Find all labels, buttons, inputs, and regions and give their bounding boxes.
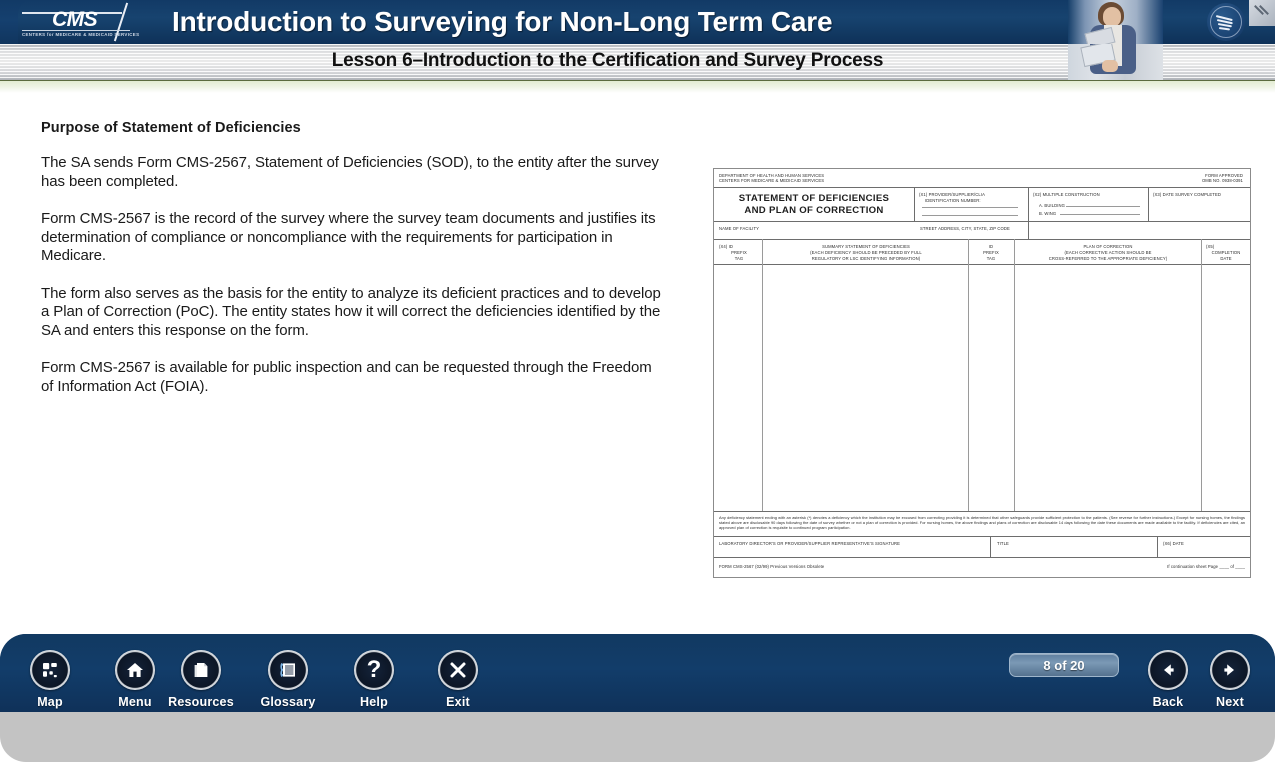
- arrow-right-icon[interactable]: [1210, 650, 1250, 690]
- window-corner-icon: [1249, 0, 1275, 26]
- form-address-label: STREET ADDRESS, CITY, STATE, ZIP CODE: [917, 224, 1177, 233]
- nav-button-exit[interactable]: Exit: [420, 650, 496, 709]
- form-col-id-l3: TAG: [970, 254, 1012, 263]
- footer-gray-area: [0, 712, 1275, 762]
- nav-label-next: Next: [1192, 695, 1268, 709]
- form-x6-date-label: (X6) DATE: [1160, 539, 1248, 548]
- photo-face: [1103, 7, 1121, 27]
- form-col-x4-l3: TAG: [716, 254, 762, 263]
- form-vline-c: [1148, 187, 1149, 221]
- form-col-rule-2: [968, 239, 969, 511]
- form-vline-sig-2: [1157, 536, 1158, 557]
- nav-label-menu: Menu: [97, 695, 173, 709]
- paragraph-1: The SA sends Form CMS-2567, Statement of…: [41, 154, 661, 191]
- form-x1-rule-2: [922, 215, 1018, 216]
- form-continuation-note: If continuation sheet Page ____ of ____: [1064, 562, 1248, 571]
- form-x3-label: (X3) DATE SURVEY COMPLETED: [1150, 190, 1250, 199]
- form-signature-label: LABORATORY DIRECTOR'S OR PROVIDER/SUPPLI…: [716, 539, 986, 548]
- form-col-summary-l3: REGULATORY OR LSC IDENTIFYING INFORMATIO…: [764, 254, 968, 263]
- form-x2-wing-rule: [1060, 214, 1140, 215]
- nav-button-next[interactable]: Next: [1192, 650, 1268, 709]
- arrow-left-icon[interactable]: [1148, 650, 1188, 690]
- paragraph-4: Form CMS-2567 is available for public in…: [41, 359, 661, 396]
- form-col-rule-4: [1201, 239, 1202, 511]
- form-x2-building-rule: [1066, 206, 1140, 207]
- form-x1-rule-1: [922, 207, 1018, 208]
- course-page: CMS CENTERS for MEDICARE & MEDICAID SERV…: [0, 0, 1275, 762]
- form-divider-2: [714, 221, 1250, 222]
- close-x-icon[interactable]: [438, 650, 478, 690]
- form-x1-sublabel: IDENTIFICATION NUMBER:: [922, 196, 1032, 205]
- lesson-text-column: Purpose of Statement of Deficiencies The…: [41, 120, 661, 396]
- nav-label-exit: Exit: [420, 695, 496, 709]
- nav-button-map[interactable]: Map: [12, 650, 88, 709]
- book-list-icon[interactable]: [268, 650, 308, 690]
- paragraph-2: Form CMS-2567 is the record of the surve…: [41, 210, 661, 266]
- question-mark-icon[interactable]: ?: [354, 650, 394, 690]
- nav-label-help: Help: [336, 695, 412, 709]
- cms-logo-wordmark: CMS: [52, 8, 97, 32]
- page-counter-badge: 8 of 20: [1009, 653, 1119, 677]
- form-divider-3: [714, 239, 1250, 240]
- page-title: Introduction to Surveying for Non-Long T…: [172, 3, 1062, 41]
- form-divider-7: [714, 557, 1250, 558]
- seal-eagle: [1216, 13, 1236, 31]
- map-icon[interactable]: [30, 650, 70, 690]
- section-heading: Purpose of Statement of Deficiencies: [41, 120, 661, 136]
- cms-2567-form-image: DEPARTMENT OF HEALTH AND HUMAN SERVICES …: [713, 168, 1251, 578]
- paragraph-3: The form also serves as the basis for th…: [41, 285, 661, 341]
- form-approved-line-2: OMB NO. 0938-0391: [1124, 176, 1246, 185]
- photo-binder: [1084, 27, 1115, 44]
- form-divider-6: [714, 536, 1250, 537]
- accent-strip: [0, 81, 1275, 93]
- form-divider: [714, 187, 1250, 188]
- form-vline-a: [914, 187, 915, 221]
- nav-button-menu[interactable]: Menu: [97, 650, 173, 709]
- header-photo: [1068, 0, 1163, 44]
- form-divider-4: [714, 264, 1250, 265]
- cms-logo: CMS CENTERS for MEDICARE & MEDICAID SERV…: [22, 4, 154, 42]
- cms-logo-rule-mid: [22, 30, 130, 31]
- form-agency-line-2: CENTERS FOR MEDICARE & MEDICAID SERVICES: [716, 176, 916, 185]
- form-number: FORM CMS-2567 (02/99) Previous Versions …: [716, 562, 976, 571]
- form-col-x5-l3: DATE: [1203, 254, 1249, 263]
- form-title-label: TITLE: [994, 539, 1154, 548]
- hhs-seal-icon: [1207, 3, 1245, 41]
- home-icon[interactable]: [115, 650, 155, 690]
- cms-logo-subtext: CENTERS for MEDICARE & MEDICAID SERVICES: [22, 32, 139, 37]
- form-title-line-2: AND PLAN OF CORRECTION: [716, 203, 912, 220]
- form-divider-5: [714, 511, 1250, 512]
- documents-icon[interactable]: [181, 650, 221, 690]
- nav-label-resources: Resources: [163, 695, 239, 709]
- form-vline-sig-1: [990, 536, 991, 557]
- nav-label-map: Map: [12, 695, 88, 709]
- form-col-poc-l3: CROSS-REFERRED TO THE APPROPRIATE DEFICI…: [1016, 254, 1200, 263]
- content-area: Purpose of Statement of Deficiencies The…: [0, 93, 1275, 633]
- subtitle-photo-continuation: [1068, 44, 1163, 80]
- form-col-rule-3: [1014, 239, 1015, 511]
- nav-button-resources[interactable]: Resources: [163, 650, 239, 709]
- form-x2-label: (X2) MULTIPLE CONSTRUCTION: [1030, 190, 1148, 199]
- form-facility-label: NAME OF FACILITY: [716, 224, 912, 233]
- lesson-subtitle-bar: Lesson 6–Introduction to the Certificati…: [0, 44, 1275, 81]
- form-col-rule-1: [762, 239, 763, 511]
- page-header: CMS CENTERS for MEDICARE & MEDICAID SERV…: [0, 0, 1275, 44]
- nav-button-help[interactable]: ? Help: [336, 650, 412, 709]
- nav-label-glossary: Glossary: [250, 695, 326, 709]
- nav-button-glossary[interactable]: Glossary: [250, 650, 326, 709]
- form-fine-print: Any deficiency statement ending with an …: [716, 513, 1248, 533]
